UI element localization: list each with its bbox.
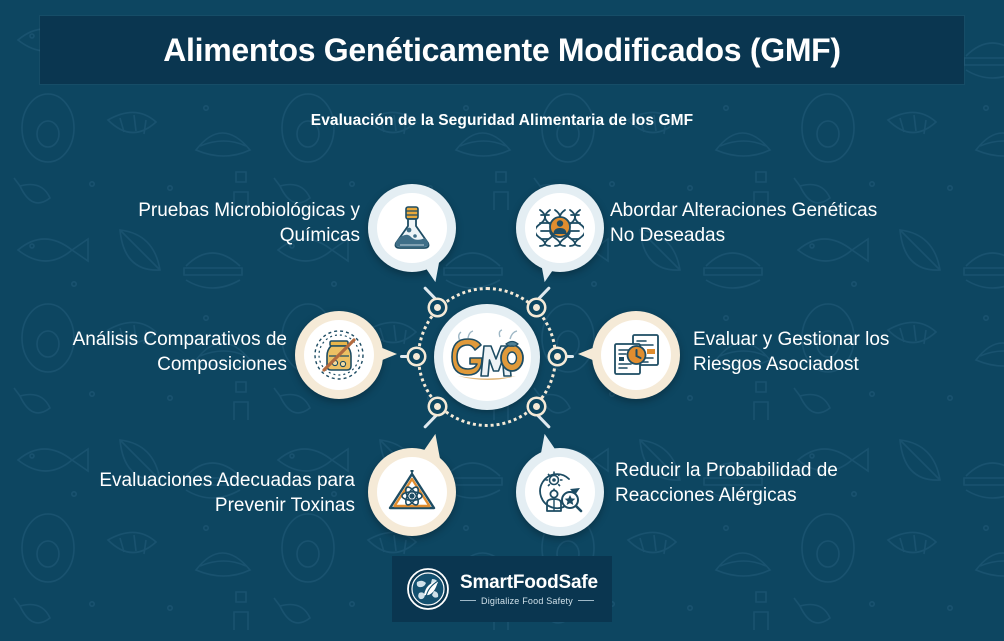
bubble-tail xyxy=(375,345,397,363)
bubble-tail xyxy=(421,432,447,461)
hub-node-mid-left xyxy=(409,349,424,364)
bubble-face xyxy=(377,193,447,263)
node-bubble-unintended-genetic-alterations[interactable] xyxy=(516,184,604,272)
tagline-rule-left xyxy=(460,600,476,601)
page-title: Alimentos Genéticamente Modificados (GMF… xyxy=(163,32,841,69)
brand-tagline: Digitalize Food Safety xyxy=(481,596,573,606)
footer-brand-logo[interactable]: SmartFoodSafe Digitalize Food Safety xyxy=(392,556,612,622)
node-bubble-toxin-prevention-assessments[interactable] xyxy=(368,448,456,536)
bubble-face xyxy=(601,320,671,390)
node-bubble-reduce-allergic-reactions[interactable] xyxy=(516,448,604,536)
globe-leaf-icon xyxy=(406,567,450,611)
gmo-corn-logo-icon xyxy=(448,329,526,385)
node-label-reduce-allergic-reactions: Reducir la Probabilidad de Reacciones Al… xyxy=(615,458,935,508)
dna-person-icon xyxy=(536,207,584,249)
bubble-face xyxy=(377,457,447,527)
title-bar: Alimentos Genéticamente Modificados (GMF… xyxy=(40,16,964,84)
node-label-comparative-composition-analysis: Análisis Comparativos de Composiciones xyxy=(2,327,287,377)
node-label-unintended-genetic-alterations: Abordar Alteraciones Genéticas No Desead… xyxy=(610,198,960,248)
person-gear-magnifier-icon xyxy=(536,469,584,515)
center-hub xyxy=(417,287,557,427)
node-bubble-assess-manage-risks[interactable] xyxy=(592,311,680,399)
hub-node-bottom-right xyxy=(529,399,544,414)
bubble-tail xyxy=(578,345,600,363)
hub-node-bottom-left xyxy=(430,399,445,414)
documents-warning-icon xyxy=(611,332,661,378)
page-subtitle: Evaluación de la Seguridad Alimentaria d… xyxy=(0,112,1004,130)
node-label-assess-manage-risks: Evaluar y Gestionar los Riesgos Asociado… xyxy=(693,327,993,377)
hub-node-top-right xyxy=(529,300,544,315)
bubble-face xyxy=(525,457,595,527)
node-label-microbiological-chemical-testing: Pruebas Microbiológicas y Químicas xyxy=(60,198,360,248)
brand-name: SmartFoodSafe xyxy=(460,573,598,593)
node-label-toxin-prevention-assessments: Evaluaciones Adecuadas para Prevenir Tox… xyxy=(20,468,355,518)
jar-prohibited-icon xyxy=(312,328,366,382)
flask-icon xyxy=(390,205,434,251)
hub-core xyxy=(434,304,540,410)
brand-tagline-row: Digitalize Food Safety xyxy=(460,596,598,606)
bubble-face xyxy=(525,193,595,263)
brand-text-block: SmartFoodSafe Digitalize Food Safety xyxy=(460,573,598,606)
tagline-rule-right xyxy=(578,600,594,601)
infographic-canvas: Alimentos Genéticamente Modificados (GMF… xyxy=(0,0,1004,641)
node-bubble-microbiological-chemical-testing[interactable] xyxy=(368,184,456,272)
hub-node-mid-right xyxy=(550,349,565,364)
hub-node-top-left xyxy=(430,300,445,315)
node-bubble-comparative-composition-analysis[interactable] xyxy=(295,311,383,399)
hazard-triangle-atom-icon xyxy=(387,470,437,514)
hub-inner-disc xyxy=(443,313,531,401)
bubble-face xyxy=(304,320,374,390)
